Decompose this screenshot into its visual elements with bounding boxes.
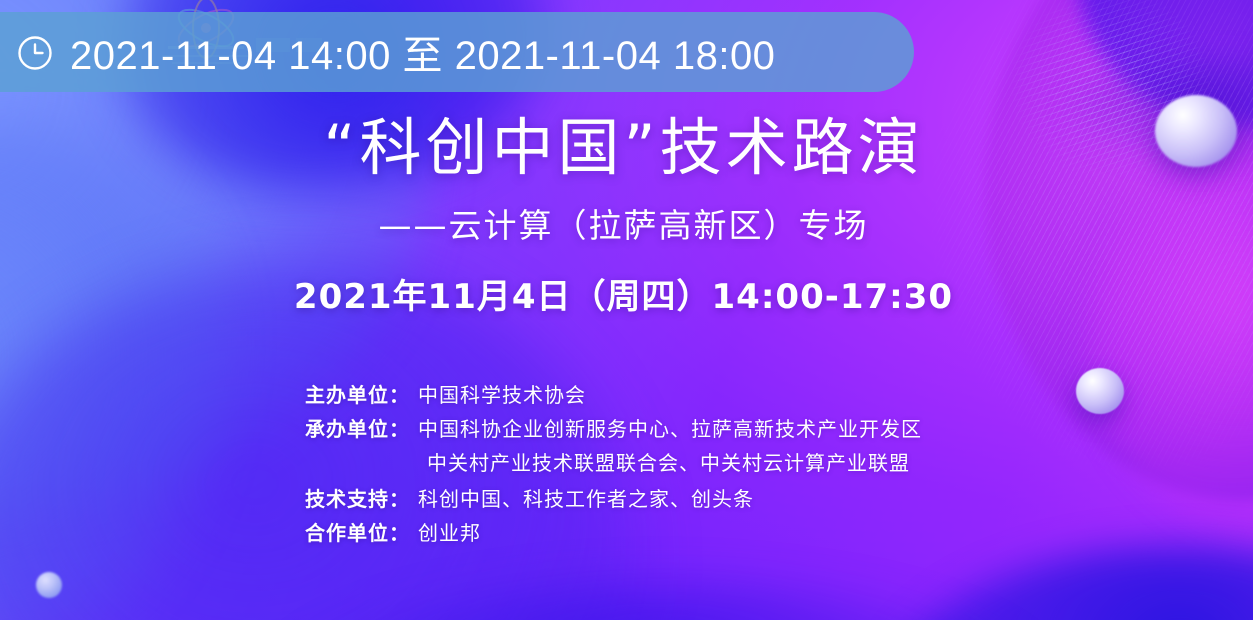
page-title: “科创中国”技术路演 xyxy=(0,112,1247,183)
credit-row-organizer: 主办单位： 中国科学技术协会 xyxy=(305,385,1065,405)
credit-row-partner: 合作单位： 创业邦 xyxy=(305,523,1065,543)
credit-value: 中国科协企业创新服务中心、拉萨高新技术产业开发区 xyxy=(418,419,922,439)
credit-value: 科创中国、科技工作者之家、创头条 xyxy=(418,489,754,509)
credit-row-co-organizer: 承办单位： 中国科协企业创新服务中心、拉萨高新技术产业开发区 xyxy=(305,419,1065,439)
headline-block: “科创中国”技术路演 ——云计算（拉萨高新区）专场 2021年11月4日（周四）… xyxy=(0,112,1253,318)
credit-label: 主办单位： xyxy=(305,385,410,405)
credits-block: 主办单位： 中国科学技术协会 承办单位： 中国科协企业创新服务中心、拉萨高新技术… xyxy=(305,385,1065,557)
clock-icon xyxy=(16,34,54,72)
credit-value: 中国科学技术协会 xyxy=(418,385,586,405)
credit-value: 创业邦 xyxy=(418,523,481,543)
event-poster: 2021-11-04 14:00 至 2021-11-04 18:00 “科创中… xyxy=(0,0,1253,620)
time-range-text: 2021-11-04 14:00 至 2021-11-04 18:00 xyxy=(70,23,775,81)
time-banner: 2021-11-04 14:00 至 2021-11-04 18:00 xyxy=(0,12,914,92)
credit-row-tech-support: 技术支持： 科创中国、科技工作者之家、创头条 xyxy=(305,489,1065,509)
decor-sphere-left-bottom xyxy=(36,572,62,598)
decor-sphere-right-bottom xyxy=(1076,368,1124,414)
page-subtitle: ——云计算（拉萨高新区）专场 xyxy=(0,199,1247,247)
credit-label: 合作单位： xyxy=(305,523,410,543)
credit-label: 技术支持： xyxy=(305,489,410,509)
event-date-line: 2021年11月4日（周四）14:00-17:30 xyxy=(0,269,1247,318)
credit-label: 承办单位： xyxy=(305,419,410,439)
credit-value-continuation: 中关村产业技术联盟联合会、中关村云计算产业联盟 xyxy=(427,453,1065,473)
